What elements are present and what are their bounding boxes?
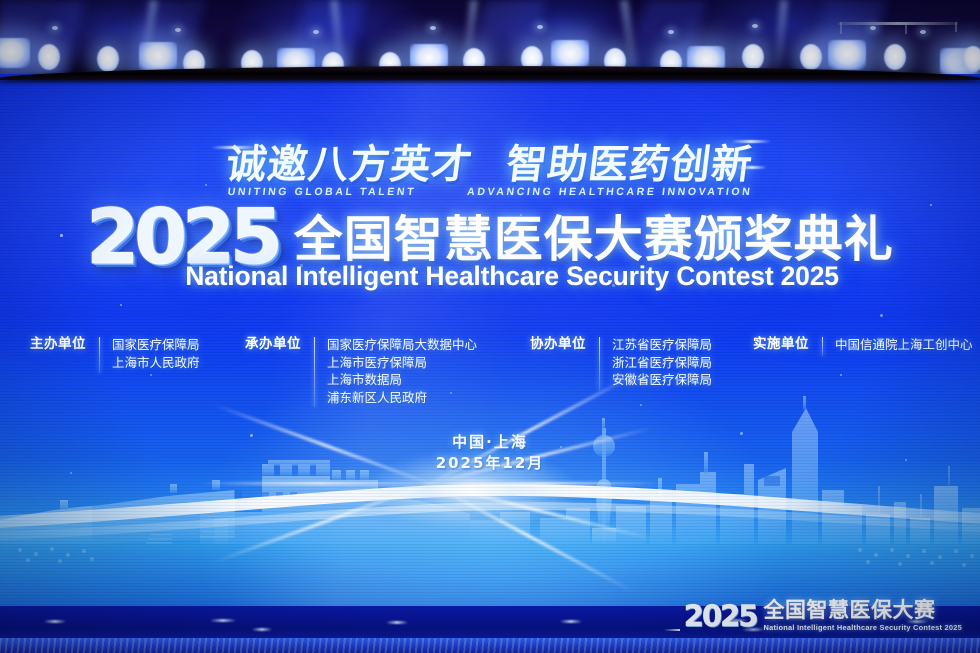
- tagline-cn-left: 诚邀八方英才: [223, 132, 476, 190]
- credit-org-list: 国家医疗保障局大数据中心 上海市医疗保障局 上海市数据局 浦东新区人民政府: [327, 336, 477, 406]
- apron-reflection: [252, 628, 272, 631]
- stage-lamp-rect: [139, 42, 177, 72]
- title-en: National Intelligent Healthcare Security…: [0, 261, 980, 292]
- stage-lamp-rect: [0, 38, 30, 68]
- credit-heading: 实施单位: [753, 336, 809, 353]
- apron-reflection: [44, 620, 66, 623]
- credit-org: 浙江省医疗保障局: [612, 354, 712, 372]
- swoosh-accent: [211, 146, 257, 149]
- apron-reflection: [560, 620, 582, 623]
- tagline-cn-right: 智助医药创新: [504, 132, 757, 190]
- rig-indicator-dot: [175, 28, 181, 32]
- tagline-block: 诚邀八方英才 智助医药创新 UNITING GLOBAL TALENT ADVA…: [0, 132, 980, 198]
- credit-org: 国家医疗保障局大数据中心: [327, 336, 477, 354]
- badge-text-block: 全国智慧医保大赛 National Intelligent Healthcare…: [764, 600, 962, 631]
- credit-org-list: 江苏省医疗保障局 浙江省医疗保障局 安徽省医疗保障局: [612, 336, 712, 389]
- apron-reflection: [386, 621, 408, 624]
- credit-org: 浦东新区人民政府: [327, 389, 477, 407]
- venue-block: 中国·上海 2025年12月: [0, 432, 980, 474]
- badge-year: 2025: [684, 599, 757, 633]
- credit-org-list: 中国信通院上海工创中心: [835, 336, 973, 354]
- badge-accent-line: [664, 629, 680, 631]
- rig-indicator-dot: [668, 30, 674, 34]
- credit-org: 中国信通院上海工创中心: [835, 336, 973, 354]
- credit-heading: 承办单位: [245, 336, 301, 353]
- badge-cn: 全国智慧医保大赛: [764, 600, 962, 621]
- swoosh-accent: [731, 140, 771, 143]
- badge-en: National Intelligent Healthcare Security…: [764, 624, 962, 631]
- credit-group-host: 主办单位 国家医疗保障局 上海市人民政府: [30, 336, 200, 373]
- stage-lamp-round: [97, 46, 119, 72]
- credit-org-list: 国家医疗保障局 上海市人民政府: [112, 336, 200, 371]
- rig-indicator-dot: [537, 25, 543, 29]
- truss-support: [955, 22, 957, 32]
- credit-org: 上海市数据局: [327, 371, 477, 389]
- stage-lamp-rect: [828, 40, 866, 70]
- credit-org: 江苏省医疗保障局: [612, 336, 712, 354]
- credits-block: 主办单位 国家医疗保障局 上海市人民政府 承办单位 国家医疗保障局大数据中心 上…: [0, 336, 980, 426]
- apron-reflection: [210, 619, 236, 622]
- rig-indicator-dot: [313, 30, 319, 34]
- credit-heading: 主办单位: [30, 336, 86, 353]
- event-logo-badge: 2025 全国智慧医保大赛 National Intelligent Healt…: [684, 599, 962, 633]
- stage-lamp-round: [742, 44, 764, 70]
- credit-group-executor: 实施单位 中国信通院上海工创中心: [753, 336, 973, 356]
- stage-floor: [0, 638, 980, 653]
- rig-indicator-dot: [752, 24, 758, 28]
- credit-org: 上海市医疗保障局: [327, 354, 477, 372]
- stage-lamp-round: [800, 44, 822, 70]
- stage-screenshot: 诚邀八方英才 智助医药创新 UNITING GLOBAL TALENT ADVA…: [0, 0, 980, 653]
- rig-indicator-dot: [52, 26, 58, 30]
- credit-org: 国家医疗保障局: [112, 336, 200, 354]
- rig-indicator-dot: [430, 26, 436, 30]
- rig-indicator-dot: [870, 26, 876, 30]
- stage-lamp-round: [962, 46, 980, 72]
- credit-divider: [314, 337, 315, 407]
- venue-date: 2025年12月: [0, 453, 980, 474]
- credit-org: 上海市人民政府: [112, 354, 200, 372]
- truss-support: [840, 22, 842, 34]
- credit-group-coorganizer: 协办单位 江苏省医疗保障局 浙江省医疗保障局 安徽省医疗保障局: [530, 336, 712, 390]
- venue-location: 中国·上海: [0, 432, 980, 453]
- credit-divider: [99, 337, 100, 373]
- credit-divider: [599, 337, 600, 390]
- credit-group-organizer: 承办单位 国家医疗保障局大数据中心 上海市医疗保障局 上海市数据局 浦东新区人民…: [245, 336, 477, 407]
- swoosh-accent: [737, 166, 767, 169]
- credit-divider: [822, 337, 823, 356]
- stage-lamp-round: [38, 44, 60, 70]
- stage-lamp-round: [884, 44, 906, 70]
- rig-indicator-dot: [920, 30, 926, 34]
- truss-bar: [838, 22, 958, 25]
- truss-support: [905, 22, 907, 34]
- credit-org: 安徽省医疗保障局: [612, 371, 712, 389]
- credit-heading: 协办单位: [530, 336, 586, 353]
